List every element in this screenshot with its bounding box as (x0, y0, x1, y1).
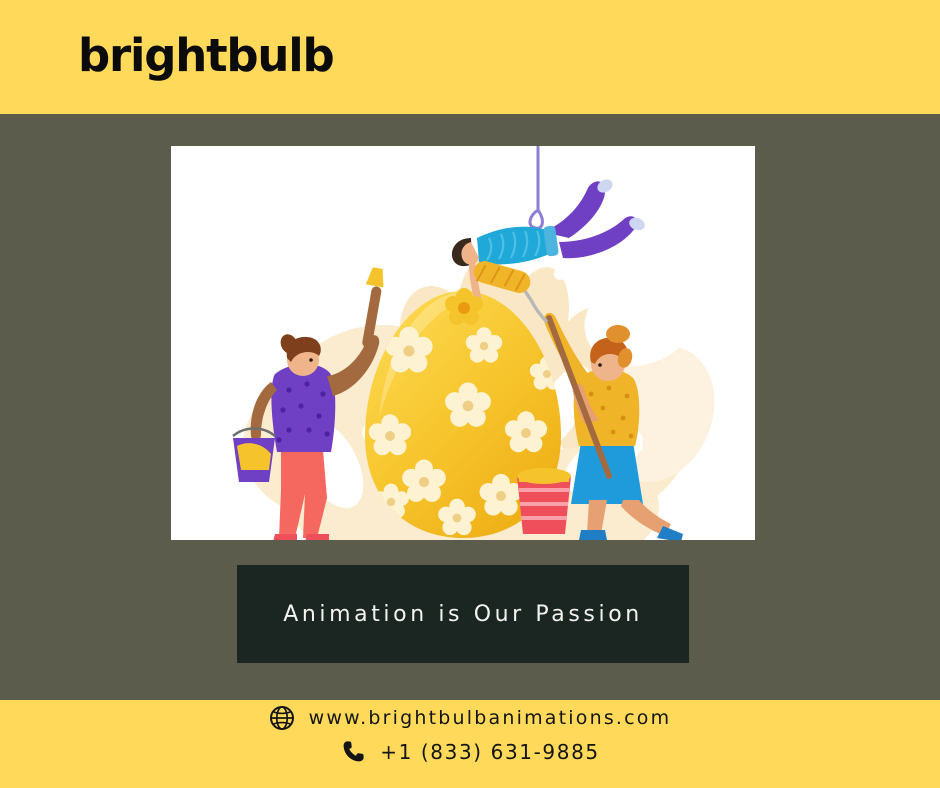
tagline-banner: Animation is Our Passion (237, 565, 689, 663)
brand-logo: brightbulb (78, 33, 333, 78)
website-url[interactable]: www.brightbulbanimations.com (309, 707, 672, 729)
header-band: brightbulb (0, 0, 940, 114)
tagline-text: Animation is Our Passion (283, 602, 643, 627)
poster-canvas: brightbulb (0, 0, 940, 788)
phone-number[interactable]: +1 (833) 631-9885 (380, 740, 599, 764)
globe-icon (269, 705, 295, 731)
phone-icon (340, 739, 366, 765)
easter-egg-painters-illustration (171, 146, 755, 540)
paint-bucket (517, 468, 571, 534)
footer-website-row[interactable]: www.brightbulbanimations.com (0, 705, 940, 731)
footer-phone-row[interactable]: +1 (833) 631-9885 (0, 739, 940, 765)
illustration-panel (171, 146, 755, 540)
